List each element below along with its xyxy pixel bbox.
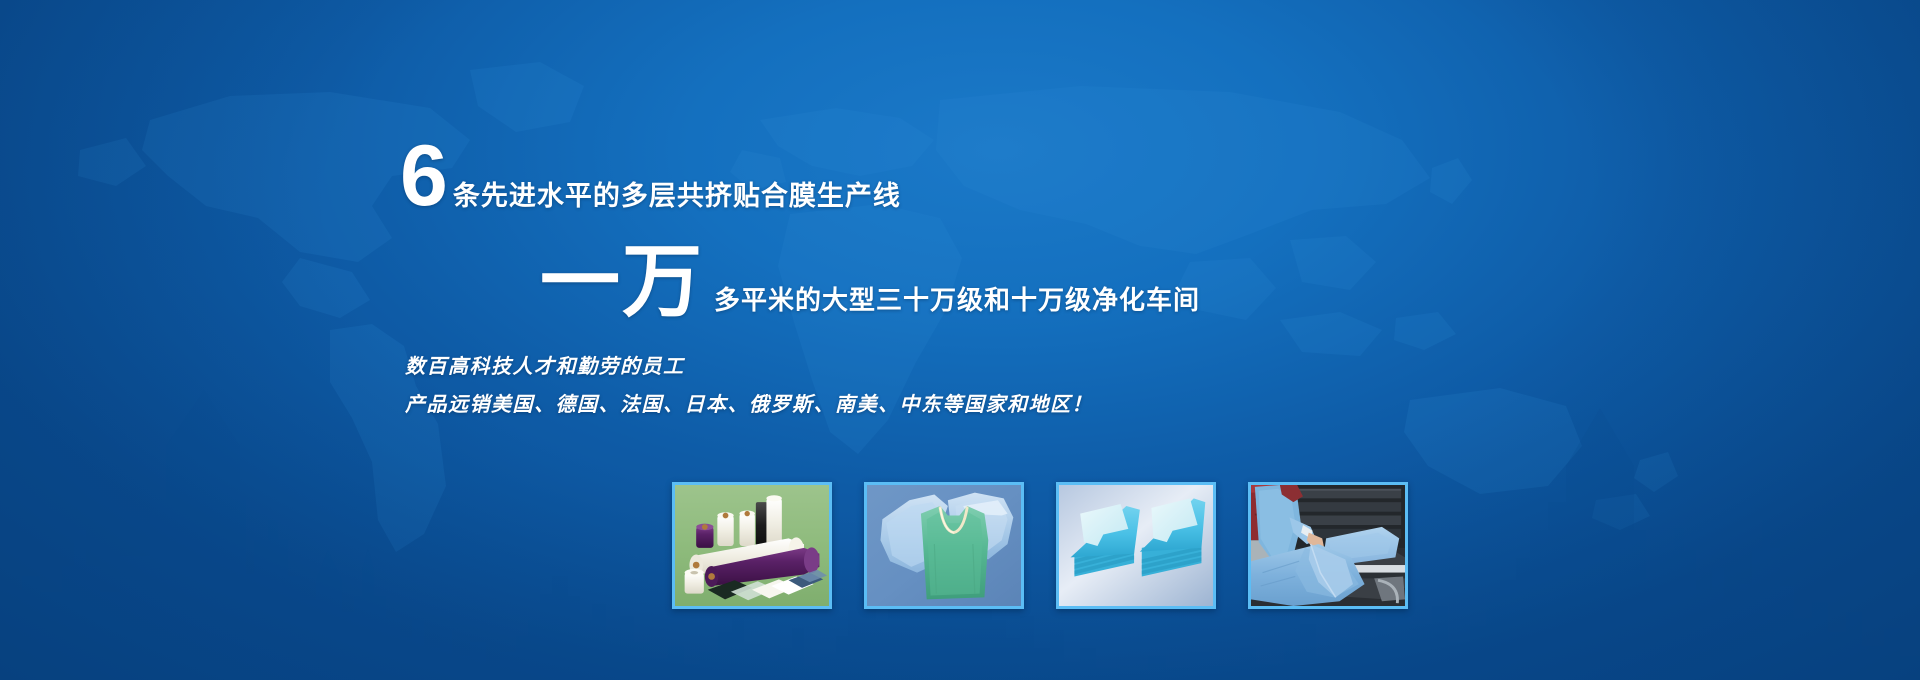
thumbnail-surgical-gowns[interactable] [864,482,1024,609]
subtext-line-2: 产品远销美国、德国、法国、日本、俄罗斯、南美、中东等国家和地区！ [405,386,1093,424]
film-rolls-photo [675,485,829,606]
surgical-drapes-photo [1059,485,1213,606]
headline-row-1: 6 条先进水平的多层共挤贴合膜生产线 [400,138,901,215]
headline-1-text: 条先进水平的多层共挤贴合膜生产线 [453,174,901,213]
thumbnail-film-rolls[interactable] [672,482,832,609]
headline-2-text: 多平米的大型三十万级和十万级净化车间 [714,280,1200,317]
promo-banner: 6 条先进水平的多层共挤贴合膜生产线 一万 多平米的大型三十万级和十万级净化车间… [0,0,1920,680]
product-thumbnail-strip [672,482,1408,609]
surgical-gowns-photo [867,485,1021,606]
operating-bed-drape-photo [1251,485,1405,606]
headline-2-number: 一万 [540,246,704,318]
headline-row-2: 一万 多平米的大型三十万级和十万级净化车间 [540,246,1200,318]
headline-1-number: 6 [400,138,447,215]
subtext-line-1: 数百高科技人才和勤劳的员工 [405,348,1093,386]
thumbnail-surgical-drapes[interactable] [1056,482,1216,609]
subtext-group: 数百高科技人才和勤劳的员工 产品远销美国、德国、法国、日本、俄罗斯、南美、中东等… [405,348,1093,424]
thumbnail-operating-bed[interactable] [1248,482,1408,609]
